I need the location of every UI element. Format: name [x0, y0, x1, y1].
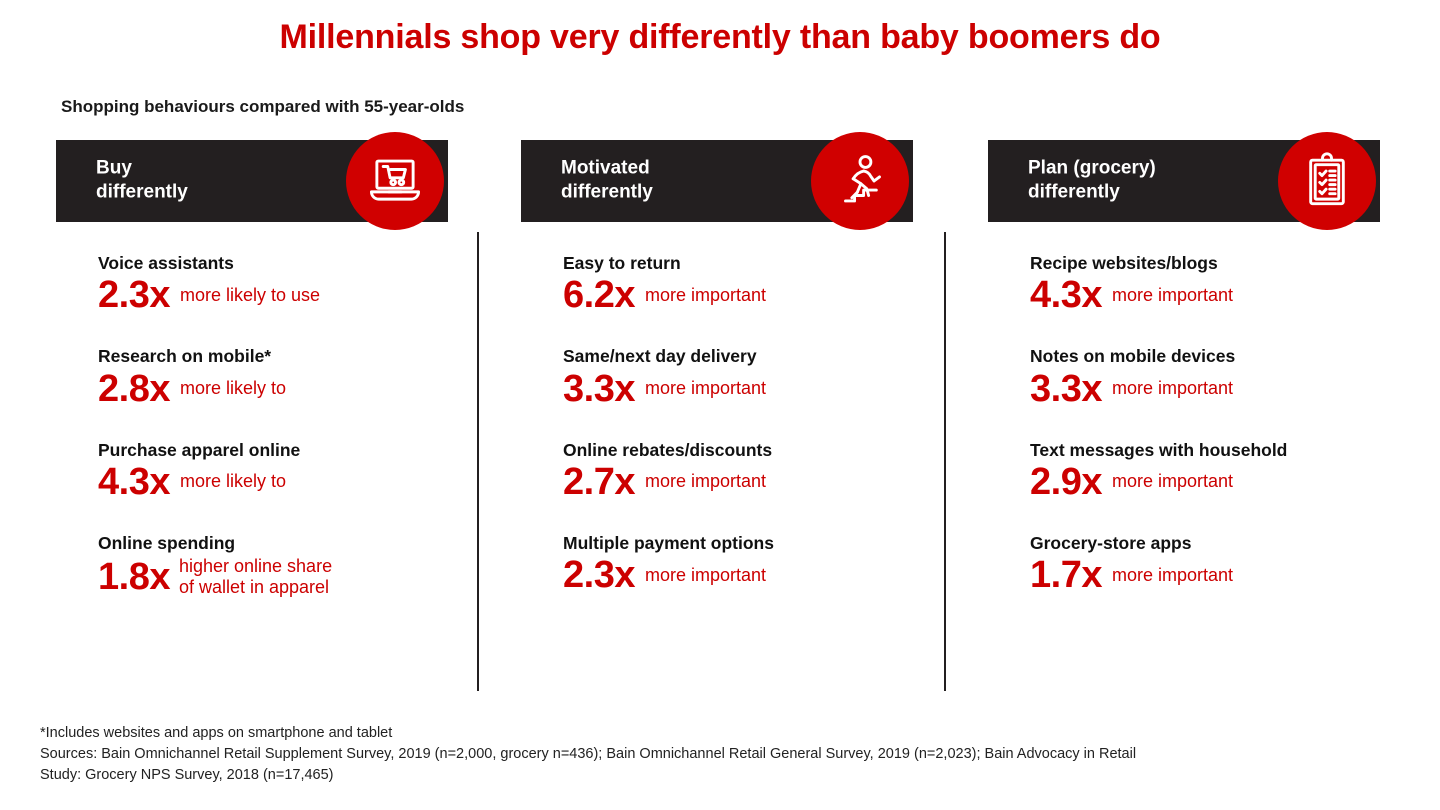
- stat-value-row: 3.3x more important: [1030, 370, 1383, 408]
- clipboard-checklist-icon: [1278, 132, 1376, 230]
- stat-description: more important: [1112, 471, 1233, 492]
- stat-description: higher online share of wallet in apparel: [179, 556, 332, 598]
- stat-value-row: 1.8x higher online share of wallet in ap…: [98, 556, 451, 598]
- list-item: Voice assistants 2.3x more likely to use: [98, 254, 451, 314]
- laptop-shopping-cart-icon: [346, 132, 444, 230]
- column-header-bar: Buy differently: [56, 140, 448, 222]
- stat-multiple: 2.8x: [98, 370, 170, 408]
- column-plan-grocery-differently: Plan (grocery) differently Recipe websit…: [988, 140, 1383, 594]
- stat-value-row: 2.3x more important: [563, 556, 916, 594]
- list-item: Text messages with household 2.9x more i…: [1030, 441, 1383, 501]
- sources-line-1: Sources: Bain Omnichannel Retail Supplem…: [40, 744, 1136, 765]
- stat-value-row: 4.3x more likely to: [98, 463, 451, 501]
- stat-multiple: 3.3x: [563, 370, 635, 408]
- list-item: Research on mobile* 2.8x more likely to: [98, 347, 451, 407]
- stat-list: Recipe websites/blogs 4.3x more importan…: [988, 254, 1383, 594]
- list-item: Multiple payment options 2.3x more impor…: [563, 534, 916, 594]
- list-item: Online rebates/discounts 2.7x more impor…: [563, 441, 916, 501]
- stat-description: more important: [645, 565, 766, 586]
- stat-multiple: 1.8x: [98, 558, 170, 596]
- stat-description: more important: [645, 471, 766, 492]
- stat-value-row: 2.3x more likely to use: [98, 276, 451, 314]
- footnote-asterisk: *Includes websites and apps on smartphon…: [40, 723, 1136, 744]
- stat-label: Multiple payment options: [563, 534, 916, 553]
- page-title: Millennials shop very differently than b…: [0, 18, 1440, 57]
- stat-description: more important: [1112, 378, 1233, 399]
- column-buy-differently: Buy differently Voice assistants 2.3x mo…: [56, 140, 451, 598]
- stat-description: more important: [1112, 285, 1233, 306]
- stat-multiple: 2.9x: [1030, 463, 1102, 501]
- list-item: Grocery-store apps 1.7x more important: [1030, 534, 1383, 594]
- stat-list: Voice assistants 2.3x more likely to use…: [56, 254, 451, 598]
- list-item: Notes on mobile devices 3.3x more import…: [1030, 347, 1383, 407]
- stat-multiple: 2.7x: [563, 463, 635, 501]
- stat-multiple: 3.3x: [1030, 370, 1102, 408]
- stat-label: Research on mobile*: [98, 347, 451, 366]
- stat-description: more important: [645, 378, 766, 399]
- stat-label: Text messages with household: [1030, 441, 1383, 460]
- stat-description: more important: [645, 285, 766, 306]
- column-header-title: Plan (grocery) differently: [1028, 157, 1156, 206]
- list-item: Online spending 1.8x higher online share…: [98, 534, 451, 598]
- stat-label: Online rebates/discounts: [563, 441, 916, 460]
- stat-description: more likely to: [180, 471, 286, 492]
- column-header-bar: Plan (grocery) differently: [988, 140, 1380, 222]
- stat-description: more likely to: [180, 378, 286, 399]
- columns-container: Buy differently Voice assistants 2.3x mo…: [0, 140, 1440, 700]
- stat-multiple: 1.7x: [1030, 556, 1102, 594]
- list-item: Recipe websites/blogs 4.3x more importan…: [1030, 254, 1383, 314]
- stat-label: Same/next day delivery: [563, 347, 916, 366]
- list-item: Easy to return 6.2x more important: [563, 254, 916, 314]
- stat-value-row: 6.2x more important: [563, 276, 916, 314]
- list-item: Same/next day delivery 3.3x more importa…: [563, 347, 916, 407]
- stat-value-row: 3.3x more important: [563, 370, 916, 408]
- person-climbing-stairs-icon: [811, 132, 909, 230]
- stat-multiple: 2.3x: [98, 276, 170, 314]
- column-divider: [477, 232, 479, 691]
- stat-multiple: 2.3x: [563, 556, 635, 594]
- stat-label: Voice assistants: [98, 254, 451, 273]
- stat-multiple: 4.3x: [1030, 276, 1102, 314]
- stat-label: Purchase apparel online: [98, 441, 451, 460]
- stat-list: Easy to return 6.2x more important Same/…: [521, 254, 916, 594]
- stat-value-row: 1.7x more important: [1030, 556, 1383, 594]
- stat-value-row: 2.7x more important: [563, 463, 916, 501]
- column-header-title: Motivated differently: [561, 157, 653, 206]
- stat-label: Grocery-store apps: [1030, 534, 1383, 553]
- list-item: Purchase apparel online 4.3x more likely…: [98, 441, 451, 501]
- stat-label: Recipe websites/blogs: [1030, 254, 1383, 273]
- footnotes: *Includes websites and apps on smartphon…: [40, 723, 1136, 786]
- stat-value-row: 2.8x more likely to: [98, 370, 451, 408]
- stat-description: more likely to use: [180, 285, 320, 306]
- column-header-title: Buy differently: [96, 157, 188, 206]
- sources-line-2: Study: Grocery NPS Survey, 2018 (n=17,46…: [40, 765, 1136, 786]
- stat-value-row: 2.9x more important: [1030, 463, 1383, 501]
- stat-label: Notes on mobile devices: [1030, 347, 1383, 366]
- stat-value-row: 4.3x more important: [1030, 276, 1383, 314]
- stat-multiple: 6.2x: [563, 276, 635, 314]
- stat-label: Online spending: [98, 534, 451, 553]
- column-motivated-differently: Motivated differently Easy to return 6.2…: [521, 140, 916, 594]
- page-subtitle: Shopping behaviours compared with 55-yea…: [61, 97, 464, 117]
- stat-label: Easy to return: [563, 254, 916, 273]
- column-header-bar: Motivated differently: [521, 140, 913, 222]
- stat-description: more important: [1112, 565, 1233, 586]
- stat-multiple: 4.3x: [98, 463, 170, 501]
- column-divider: [944, 232, 946, 691]
